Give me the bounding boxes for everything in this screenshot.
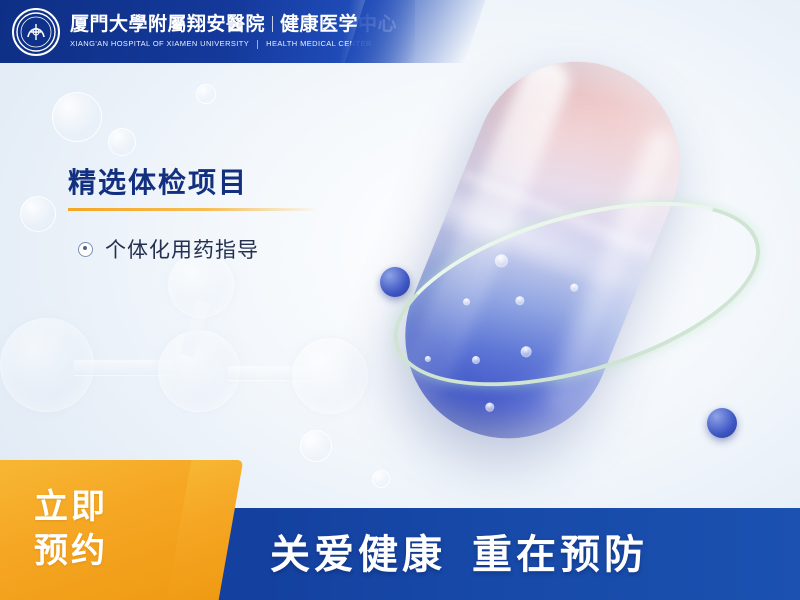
brand-divider <box>272 16 273 32</box>
list-item-label: 个体化用药指导 <box>105 234 259 264</box>
capsule-highlight <box>397 51 576 403</box>
liquid-bubble <box>424 355 432 363</box>
headline-underline <box>68 208 320 211</box>
capsule-body <box>374 31 710 469</box>
decorative-bubble <box>108 128 136 156</box>
decorative-bubble <box>196 84 216 104</box>
liquid-bubble <box>462 297 471 306</box>
molecule-node <box>292 338 368 414</box>
brand-name-en-secondary: HEALTH MEDICAL CENTER <box>266 40 372 48</box>
promo-poster: 厦門大學附屬翔安醫院 健康医学中心 XIANG'AN HOSPITAL OF X… <box>0 0 800 600</box>
molecule-node <box>0 318 94 412</box>
brand-name-en: XIANG'AN HOSPITAL OF XIAMEN UNIVERSITY H… <box>70 40 397 49</box>
orbit-node-left <box>380 267 410 297</box>
decorative-bubble <box>300 430 332 462</box>
molecule-bond <box>74 360 172 376</box>
molecule-bond <box>228 366 314 381</box>
slogan-left: 关爱健康 <box>270 533 446 577</box>
liquid-bubble <box>471 355 481 365</box>
liquid-bubble <box>519 345 533 359</box>
appointment-cta-line1: 立即 <box>34 486 108 530</box>
brand-name-en-primary: XIANG'AN HOSPITAL OF XIAMEN UNIVERSITY <box>70 40 249 48</box>
capsule-seam <box>458 170 654 262</box>
brand-name-cn: 厦門大學附屬翔安醫院 健康医学中心 <box>70 15 397 34</box>
brand-header: 厦門大學附屬翔安醫院 健康医学中心 XIANG'AN HOSPITAL OF X… <box>0 0 415 63</box>
decorative-bubble <box>52 92 102 142</box>
decorative-bubble <box>372 470 390 488</box>
slogan-right: 重在预防 <box>472 533 648 577</box>
brand-divider-en <box>257 40 258 49</box>
headline-block: 精选体检项目 <box>68 168 368 211</box>
molecule-node <box>158 330 240 412</box>
brand-name-cn-primary: 厦門大學附屬翔安醫院 <box>70 15 265 34</box>
brand-text-block: 厦門大學附屬翔安醫院 健康医学中心 XIANG'AN HOSPITAL OF X… <box>70 15 397 49</box>
capsule-highlight-secondary <box>541 127 677 415</box>
list-item: 个体化用药指导 <box>78 234 259 264</box>
page-title: 精选体检项目 <box>68 168 368 199</box>
liquid-surface <box>420 172 684 325</box>
liquid-bubble <box>484 401 496 413</box>
capsule-illustration <box>380 45 780 475</box>
appointment-cta-line2: 预约 <box>34 530 108 574</box>
appointment-cta-button[interactable]: 立即 预约 <box>0 460 205 600</box>
liquid-bubble <box>569 282 579 292</box>
decorative-bubble <box>20 196 56 232</box>
slogan-text: 关爱健康重在预防 <box>270 522 648 580</box>
liquid-bubble <box>514 295 526 307</box>
orbit-node-right <box>707 408 737 438</box>
radio-bullet-icon <box>78 242 93 257</box>
hospital-emblem-icon <box>12 8 60 56</box>
liquid-bubble <box>493 252 510 269</box>
molecule-orbit-ring <box>374 166 781 422</box>
brand-name-cn-secondary: 健康医学中心 <box>280 15 397 34</box>
molecule-bond <box>179 299 210 358</box>
appointment-cta-label: 立即 预约 <box>34 486 108 573</box>
